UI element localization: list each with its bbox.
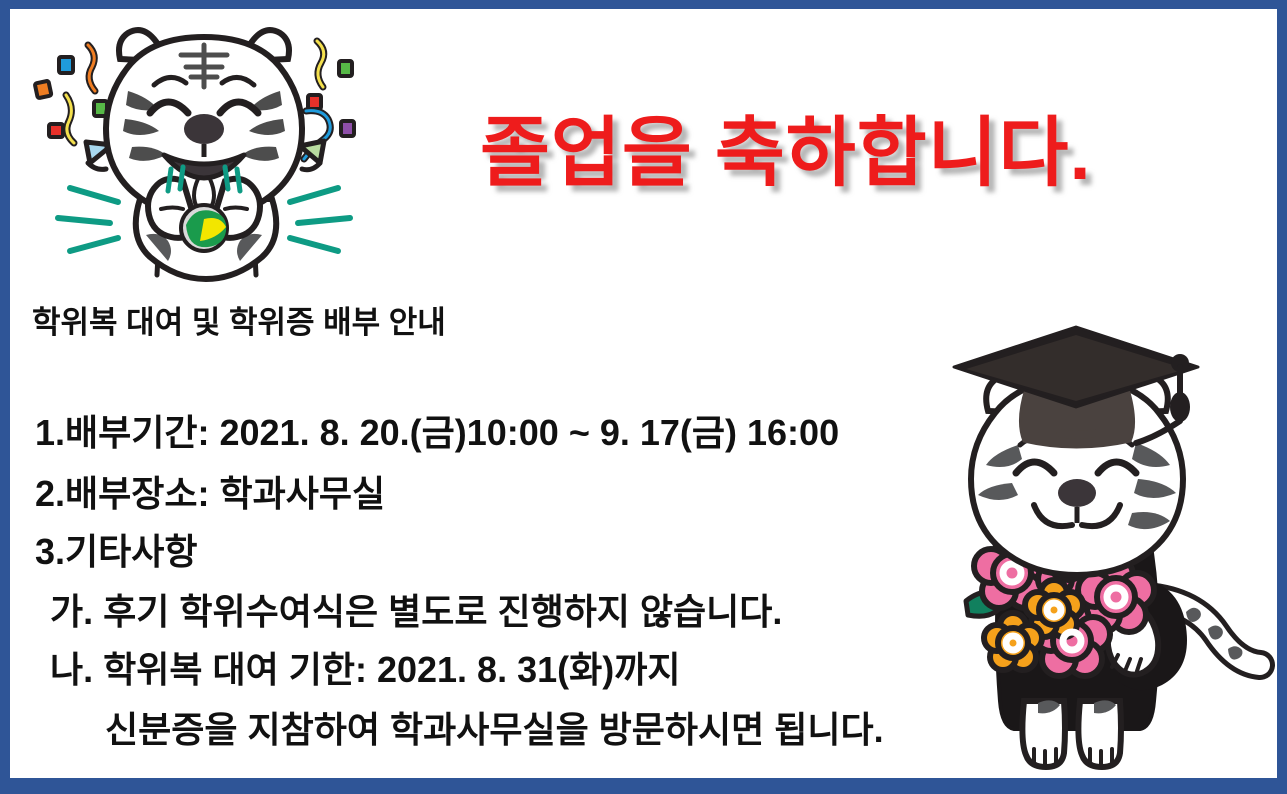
page-title: 졸업을 축하합니다. bbox=[480, 91, 1180, 201]
notice-item-2: 2.배부장소: 학과사무실 bbox=[35, 465, 385, 517]
clapping-tiger-illustration bbox=[28, 13, 380, 281]
graduating-tiger-illustration bbox=[940, 305, 1260, 775]
graduation-notice-poster: 졸업을 축하합니다. 학위복 대여 및 학위증 배부 안내 1.배부기간: 20… bbox=[0, 0, 1287, 794]
notice-heading: 학위복 대여 및 학위증 배부 안내 bbox=[32, 297, 446, 342]
notice-item-3-na: 나. 학위복 대여 기한: 2021. 8. 31(화)까지 bbox=[50, 641, 680, 693]
notice-item-1: 1.배부기간: 2021. 8. 20.(금)10:00 ~ 9. 17(금) … bbox=[35, 404, 839, 456]
notice-item-3: 3.기타사항 bbox=[35, 523, 198, 575]
notice-item-3-na-continued: 신분증을 지참하여 학과사무실을 방문하시면 됩니다. bbox=[105, 701, 884, 753]
notice-item-3-ga: 가. 후기 학위수여식은 별도로 진행하지 않습니다. bbox=[50, 583, 782, 635]
tiger-body bbox=[106, 30, 302, 279]
